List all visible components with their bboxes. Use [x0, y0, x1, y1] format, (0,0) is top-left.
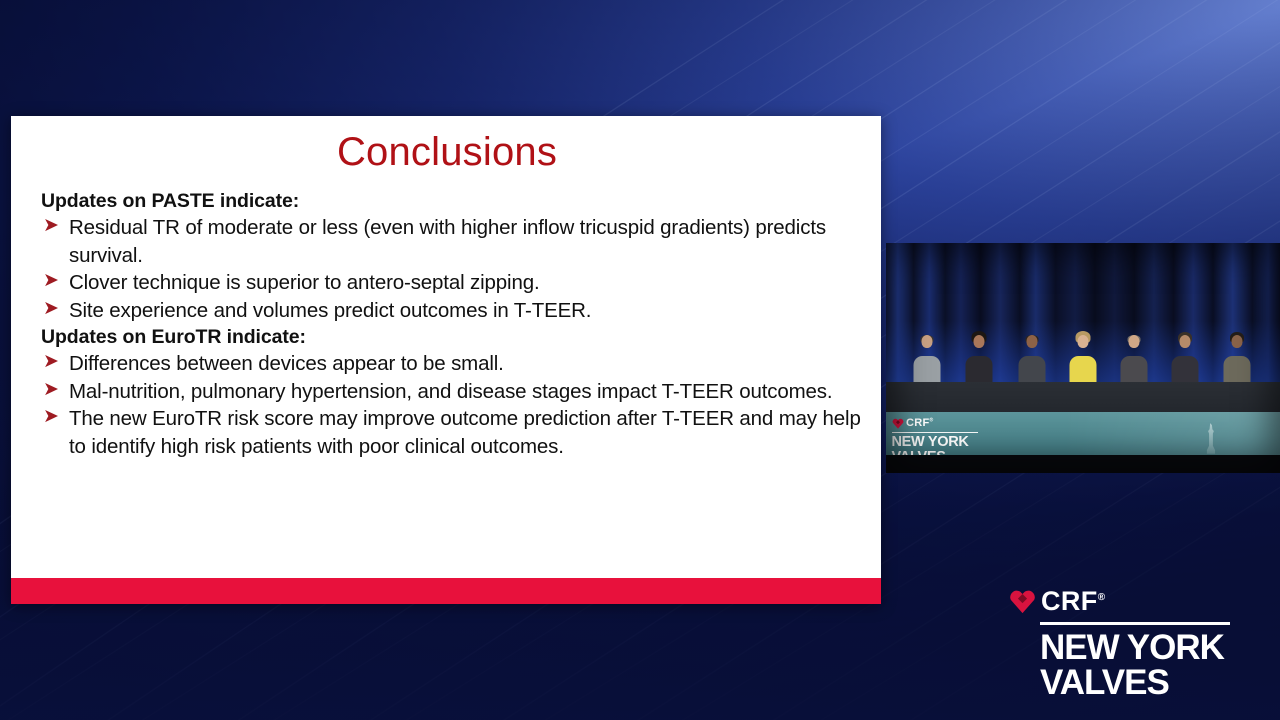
arrow-bullet-icon: ➤	[43, 213, 59, 239]
arrow-bullet-icon: ➤	[43, 268, 59, 294]
brand-divider	[1040, 622, 1230, 625]
banner-logo: CRF® NEW YORK VALVES	[892, 418, 978, 455]
bullet-list-paste: ➤ Residual TR of moderate or less (even …	[31, 214, 863, 324]
brand-line2: VALVES	[1040, 665, 1239, 701]
panelist-torso	[914, 356, 941, 386]
page-title: Conclusions	[31, 116, 863, 188]
list-item-text: Clover technique is superior to antero-s…	[69, 271, 540, 294]
bullet-list-eurotr: ➤ Differences between devices appear to …	[31, 350, 863, 460]
list-item: ➤ The new EuroTR risk score may improve …	[41, 405, 863, 460]
slide-accent-bar	[11, 578, 881, 604]
skyline-graphic	[1063, 412, 1280, 455]
panelist-head	[1180, 335, 1191, 348]
panelist	[1010, 335, 1053, 386]
panelist-torso	[1223, 356, 1250, 386]
panelist	[1215, 335, 1258, 386]
panelist-head	[1077, 335, 1088, 348]
presentation-slide: Conclusions Updates on PASTE indicate: ➤…	[11, 116, 881, 604]
arrow-bullet-icon: ➤	[43, 349, 59, 375]
list-item: ➤ Clover technique is superior to antero…	[41, 269, 863, 297]
brand-line1: NEW YORK	[1040, 630, 1239, 666]
panelist	[1061, 335, 1104, 386]
panelist-head	[1026, 335, 1037, 348]
panelist-head	[973, 335, 984, 348]
brand-crf-text: CRF®	[1041, 588, 1105, 615]
list-item-text: The new EuroTR risk score may improve ou…	[69, 407, 861, 458]
video-stage: CRF® NEW YORK VALVES	[886, 243, 1280, 473]
list-item-text: Differences between devices appear to be…	[69, 352, 504, 375]
list-item-text: Mal-nutrition, pulmonary hypertension, a…	[69, 380, 832, 403]
panelist-torso	[1121, 356, 1148, 386]
panelist	[906, 335, 949, 386]
panelist-head	[1231, 335, 1242, 348]
banner-brand-text: CRF®	[906, 418, 934, 429]
speaker-panel-video[interactable]: CRF® NEW YORK VALVES	[886, 243, 1280, 473]
stage-banner: CRF® NEW YORK VALVES	[886, 412, 1280, 455]
slide-content: Conclusions Updates on PASTE indicate: ➤…	[11, 116, 881, 604]
list-item: ➤ Mal-nutrition, pulmonary hypertension,…	[41, 378, 863, 406]
list-item: ➤ Differences between devices appear to …	[41, 350, 863, 378]
list-item-text: Site experience and volumes predict outc…	[69, 299, 591, 322]
heart-icon	[1009, 589, 1036, 614]
list-item-text: Residual TR of moderate or less (even wi…	[69, 216, 826, 267]
panelist	[957, 335, 1000, 386]
crf-new-york-valves-logo: CRF® NEW YORK VALVES	[1009, 588, 1239, 701]
list-item: ➤ Site experience and volumes predict ou…	[41, 297, 863, 325]
video-foreground-shadow	[886, 455, 1280, 473]
banner-line1: NEW YORK	[892, 435, 978, 450]
arrow-bullet-icon: ➤	[43, 296, 59, 322]
panelist-torso	[1069, 356, 1096, 386]
panelist	[1164, 335, 1207, 386]
panelist-torso	[965, 356, 992, 386]
panelists-row	[886, 335, 1280, 386]
panelist	[1113, 335, 1156, 386]
panelist-head	[922, 335, 933, 348]
heart-icon	[892, 418, 904, 429]
panelist-head	[1129, 335, 1140, 348]
section-heading-paste: Updates on PASTE indicate:	[41, 190, 863, 213]
section-heading-eurotr: Updates on EuroTR indicate:	[41, 326, 863, 349]
arrow-bullet-icon: ➤	[43, 377, 59, 403]
arrow-bullet-icon: ➤	[43, 404, 59, 430]
list-item: ➤ Residual TR of moderate or less (even …	[41, 214, 863, 269]
panelist-torso	[1172, 356, 1199, 386]
panelist-torso	[1018, 356, 1045, 386]
banner-divider	[892, 432, 978, 434]
